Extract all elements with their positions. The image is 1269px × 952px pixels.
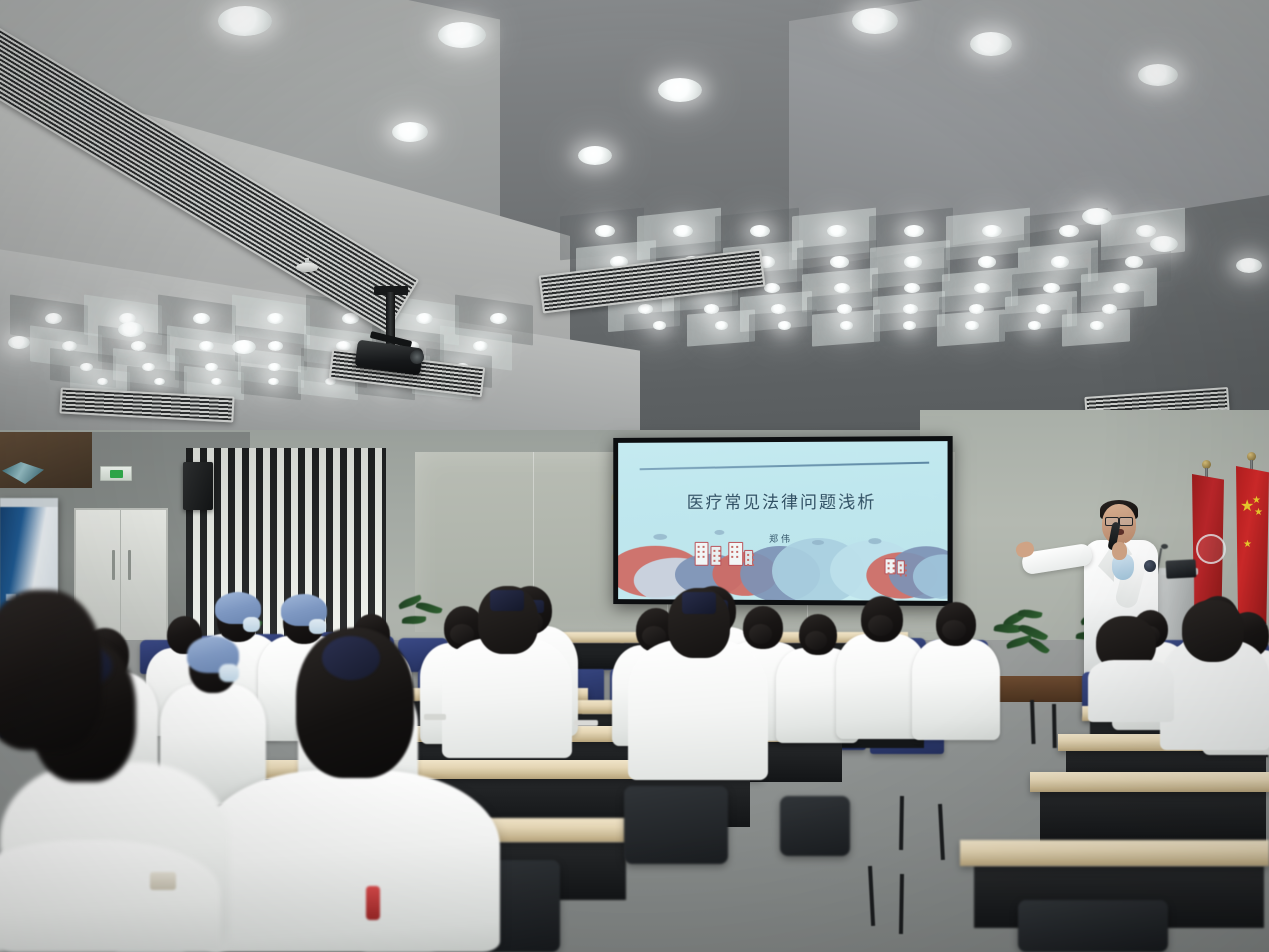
ceiling-downlight (969, 304, 984, 313)
ceiling-downlight (1138, 64, 1178, 86)
glasses-icon (1119, 517, 1133, 526)
ceiling-downlight (392, 122, 428, 142)
ceiling-downlight (965, 321, 978, 329)
ceiling-downlight (80, 363, 93, 371)
foreground-person-head (0, 590, 102, 750)
ceiling-downlight (852, 8, 898, 34)
audience-head (1182, 600, 1244, 662)
desk-modesty-panel (1040, 792, 1266, 844)
ceiling-downlight (840, 321, 853, 329)
ceiling-downlight (658, 78, 702, 102)
projection-screen: 医疗常见法律问题浅析 郑伟 (613, 436, 952, 606)
ceiling-downlight (837, 304, 852, 313)
ceiling-downlight (199, 341, 214, 351)
ceiling-downlight (211, 378, 222, 385)
task-chair (624, 786, 728, 864)
ceiling-downlight (1036, 304, 1051, 313)
smoke-detector-icon (296, 263, 318, 272)
ceiling-downlight (903, 304, 918, 313)
task-chair (780, 796, 850, 856)
ceiling-downlight (1043, 283, 1060, 293)
hair-bun (805, 631, 827, 650)
face-mask (219, 664, 239, 682)
task-chair (1018, 900, 1168, 952)
ceiling-downlight (704, 304, 719, 313)
cup-on-desk (150, 872, 176, 890)
slide-author: 郑伟 (618, 532, 947, 545)
ceiling-downlight (830, 256, 848, 267)
chair-leg (1052, 704, 1057, 748)
foreground-person-uniform (200, 770, 500, 952)
lecture-hall-photo: 医疗常见法律问题浅析 郑伟 ★ ★ ★ ★ (0, 0, 1269, 952)
slide-title: 医疗常见法律问题浅析 (618, 488, 947, 513)
paper-on-desk (424, 714, 446, 720)
audience-member (912, 602, 1000, 740)
ceiling-downlight (903, 321, 916, 329)
ceiling-downlight (904, 283, 921, 293)
ceiling-downlight (904, 256, 922, 267)
ceiling-downlight (1082, 208, 1112, 225)
ceiling-downlight (118, 322, 144, 337)
ceiling-downlight (1125, 256, 1143, 267)
ceiling-downlight (978, 256, 996, 267)
slide-illustration-cloud (812, 540, 824, 545)
flag-emblem-icon (1196, 534, 1226, 564)
ceiling-downlight (232, 340, 256, 354)
ceiling-downlight (1150, 236, 1178, 252)
presenter-right-hand (1112, 542, 1127, 560)
ceiling-downlight (62, 341, 77, 351)
presentation-slide: 医疗常见法律问题浅析 郑伟 (618, 441, 947, 601)
slide-illustration (618, 441, 947, 443)
ceiling-downlight (268, 378, 279, 385)
ceiling-downlight (154, 378, 165, 385)
ceiling-downlight (653, 321, 666, 329)
ceiling-downlight (1090, 321, 1103, 329)
ceiling-downlight (218, 6, 272, 36)
ceiling-downlight (778, 321, 791, 329)
paper-on-desk (574, 720, 598, 726)
ceiling-downlight (974, 283, 991, 293)
desk (960, 840, 1269, 866)
slide-illustration-building (710, 546, 721, 566)
ceiling (0, 0, 1269, 470)
exit-sign (100, 466, 132, 481)
slide-illustration-building (695, 542, 709, 566)
ceiling-downlight (1102, 304, 1117, 313)
wood-wall-trim (0, 432, 92, 488)
pen-in-pocket-icon (366, 886, 380, 920)
hair-bun (868, 615, 893, 636)
ceiling-downlight (764, 283, 781, 293)
ceiling-downlight (1236, 258, 1262, 273)
ceiling-downlight (1113, 283, 1130, 293)
ceiling-downlight (490, 313, 507, 324)
slide-illustration-building (897, 560, 905, 574)
slide-illustration-cloud (714, 530, 724, 535)
ceiling-downlight (834, 283, 851, 293)
ceiling-downlight (267, 313, 284, 324)
ceiling-downlight (473, 341, 488, 351)
flag-star-icon: ★ (1243, 540, 1252, 550)
audience-uniform (1088, 660, 1174, 722)
exit-running-man-icon (110, 470, 123, 478)
ceiling-downlight (1051, 256, 1069, 267)
audience-uniform (628, 640, 768, 780)
ceiling-downlight (8, 336, 30, 349)
presenter-badge-icon (1144, 560, 1156, 572)
foreground-person-shoulder (0, 840, 220, 952)
slide-illustration-cloud (868, 538, 881, 544)
slide-illustration-building (885, 558, 896, 574)
audience-uniform (912, 639, 1000, 740)
ceiling-downlight (970, 32, 1012, 56)
slide-illustration-building (744, 550, 753, 566)
desk (1030, 772, 1269, 792)
ceiling-downlight (438, 22, 486, 48)
ceiling-downlight (416, 313, 433, 324)
audience-uniform (442, 638, 572, 758)
ceiling-downlight (715, 321, 728, 329)
ceiling-downlight (131, 341, 146, 351)
flag-star-icon: ★ (1254, 508, 1263, 518)
ceiling-downlight (578, 146, 612, 165)
ceiling-downlight (1028, 321, 1041, 329)
ceiling-downlight (97, 378, 108, 385)
slide-illustration-building (728, 542, 743, 566)
ceiling-downlight (193, 313, 210, 324)
hair-bun (942, 620, 966, 640)
hair-bow (682, 592, 716, 614)
ceiling-downlight (268, 341, 283, 351)
ceiling-downlight (45, 313, 62, 324)
ceiling-downlight (638, 304, 653, 313)
ceiling-downlight (268, 363, 281, 371)
hair-bow (490, 590, 524, 611)
hair-bun (749, 624, 772, 644)
ceiling-downlight (771, 304, 786, 313)
slide-illustration-cloud (653, 534, 667, 540)
flag-star-icon: ★ (1252, 496, 1261, 506)
hair-bow (322, 636, 380, 680)
wall-speaker-icon (183, 462, 213, 510)
slide-divider-rule (640, 462, 930, 471)
ceiling-downlight (205, 363, 218, 371)
